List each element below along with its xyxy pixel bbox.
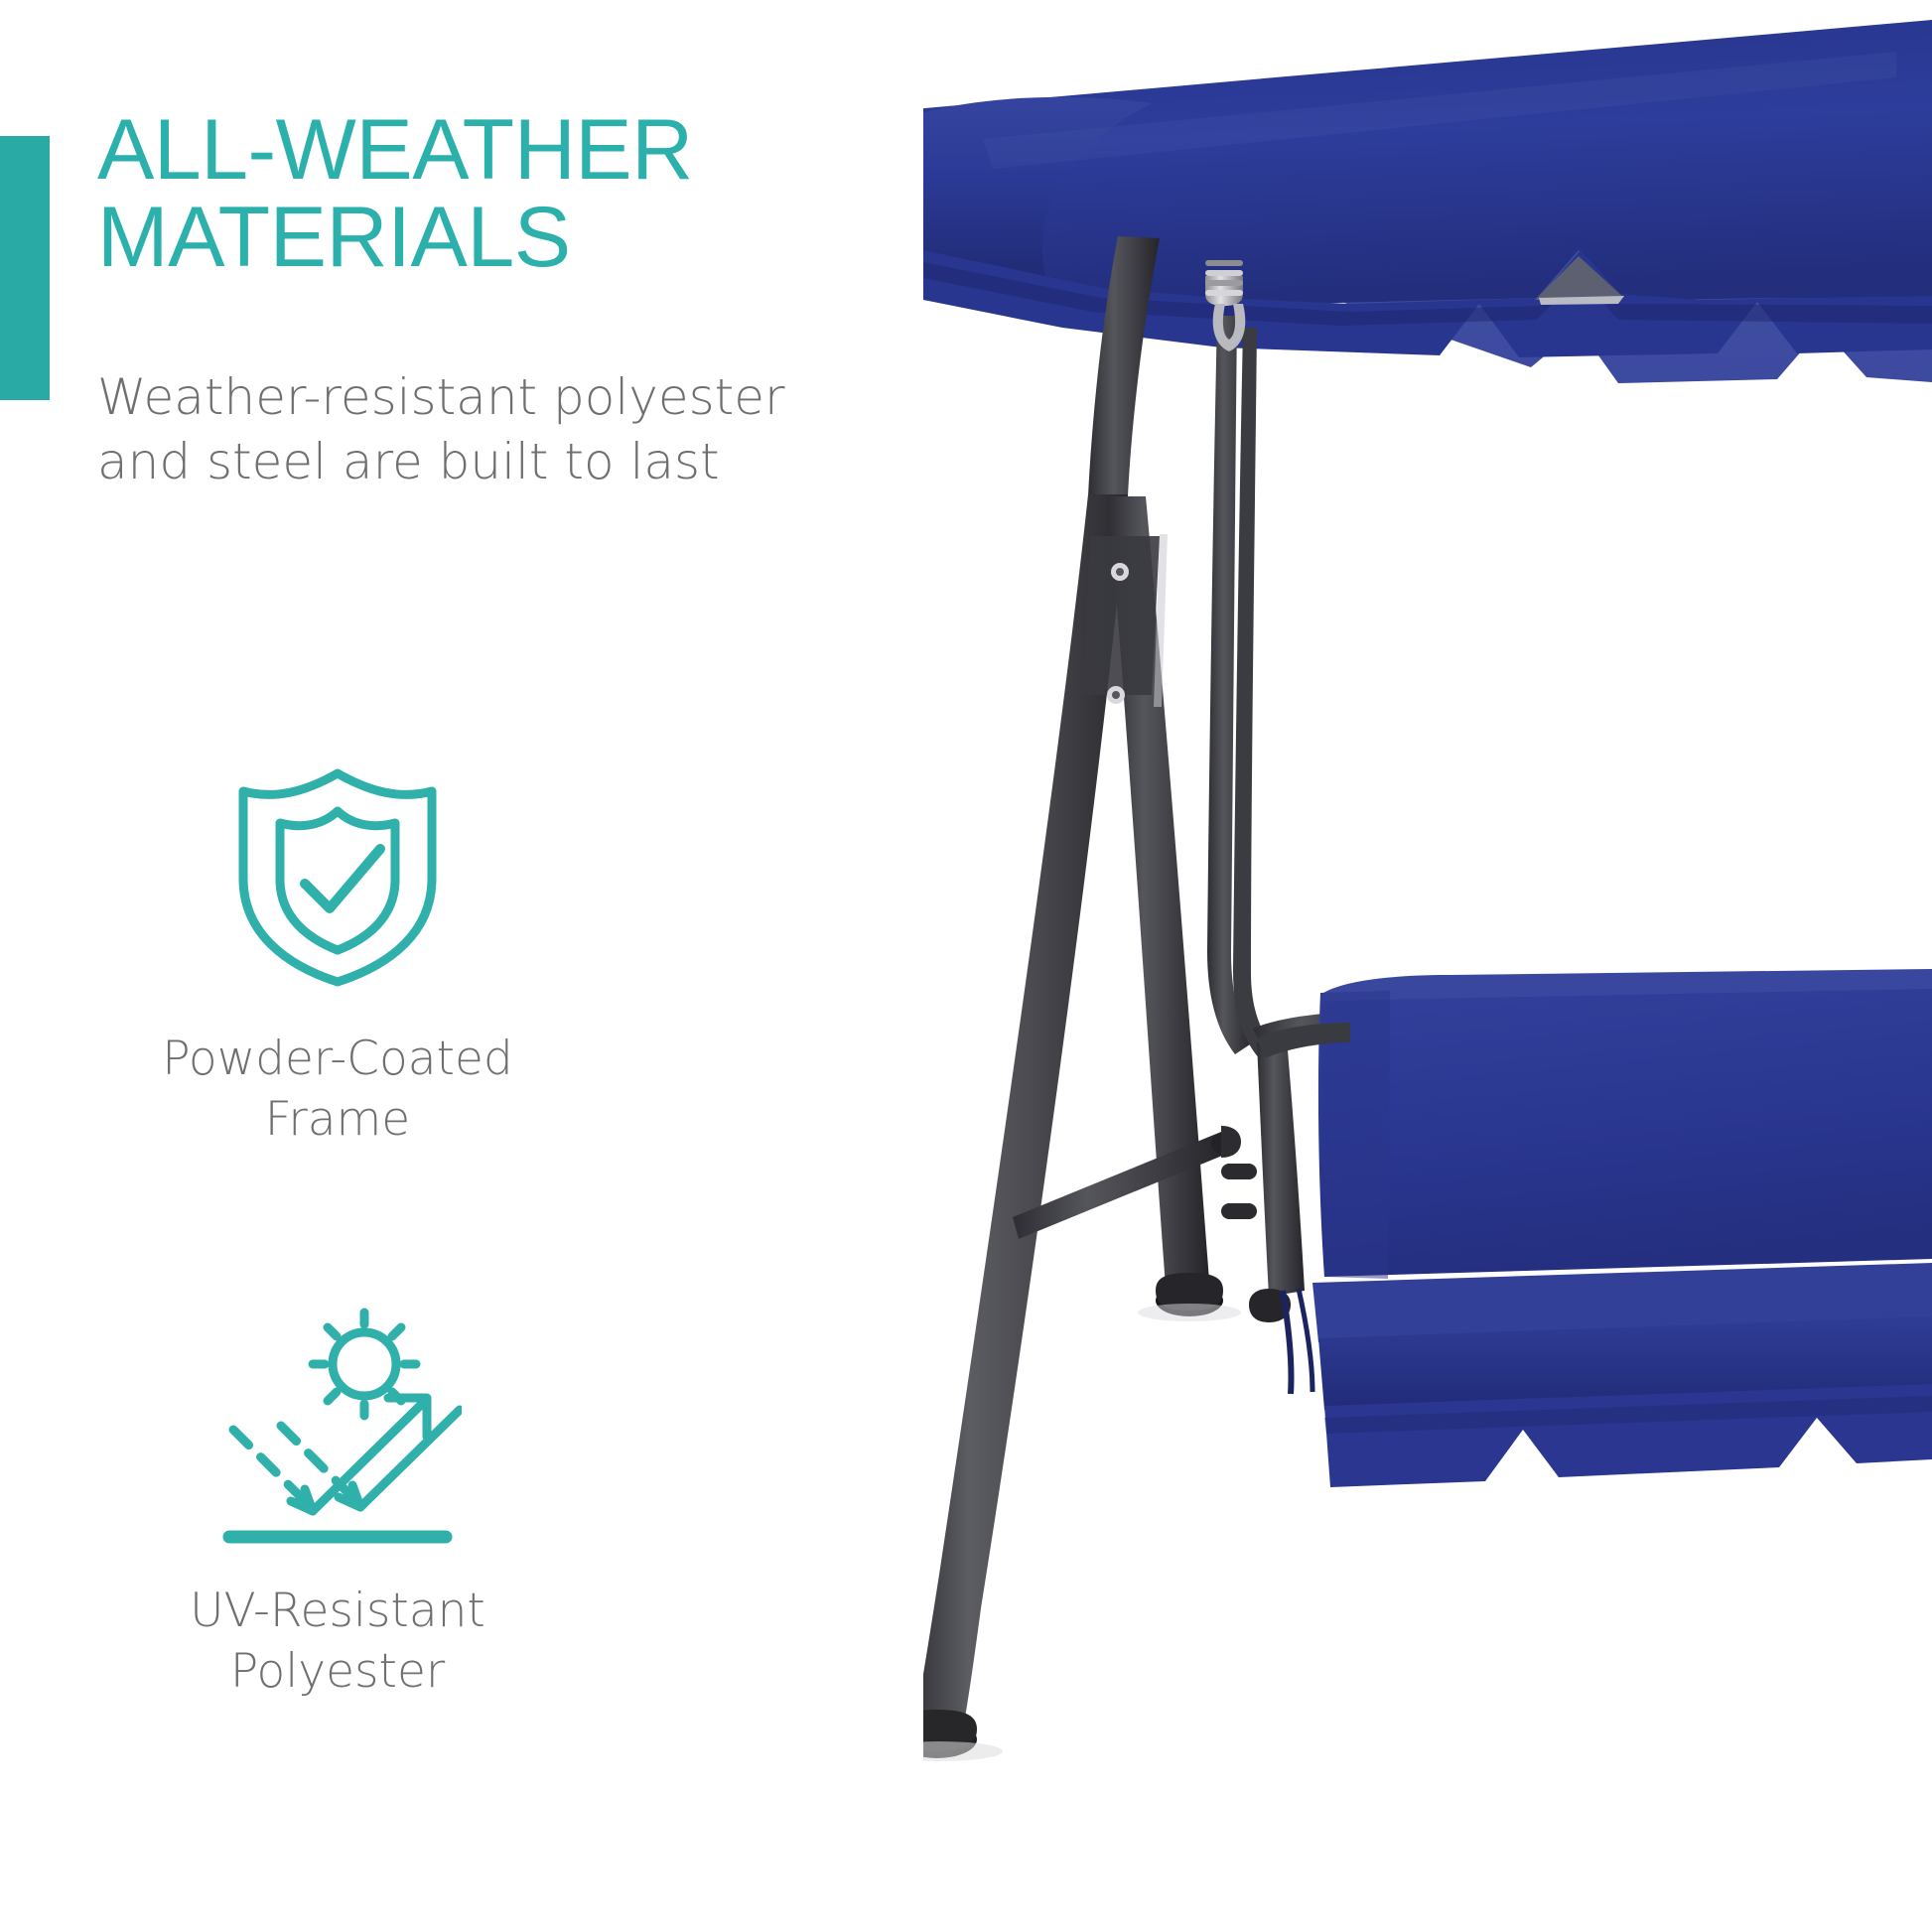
feature-label-line-1: UV-Resistant <box>60 1581 616 1641</box>
feature-uv-resistant-polyester: UV-Resistant Polyester <box>60 1309 616 1702</box>
feature-label-line-1: Powder-Coated <box>60 1029 616 1089</box>
shield-check-icon <box>60 757 616 995</box>
feature-label: Powder-Coated Frame <box>60 1029 616 1150</box>
page-title: ALL-WEATHER MATERIALS <box>97 107 892 281</box>
marketing-infographic: ALL-WEATHER MATERIALS Weather-resistant … <box>0 0 1932 1932</box>
feature-powder-coated-frame: Powder-Coated Frame <box>60 757 616 1150</box>
subtitle-line-1: Weather-resistant polyester <box>97 365 911 430</box>
headline-line-2: MATERIALS <box>97 195 892 282</box>
feature-label: UV-Resistant Polyester <box>60 1581 616 1702</box>
subtitle-line-2: and steel are built to last <box>97 430 911 494</box>
feature-label-line-2: Frame <box>60 1089 616 1150</box>
accent-bar <box>0 136 50 400</box>
uv-reflect-icon <box>60 1309 616 1547</box>
feature-label-line-2: Polyester <box>60 1641 616 1702</box>
product-image <box>923 0 1932 1932</box>
subtitle: Weather-resistant polyester and steel ar… <box>97 365 911 494</box>
headline-line-1: ALL-WEATHER <box>97 107 892 195</box>
